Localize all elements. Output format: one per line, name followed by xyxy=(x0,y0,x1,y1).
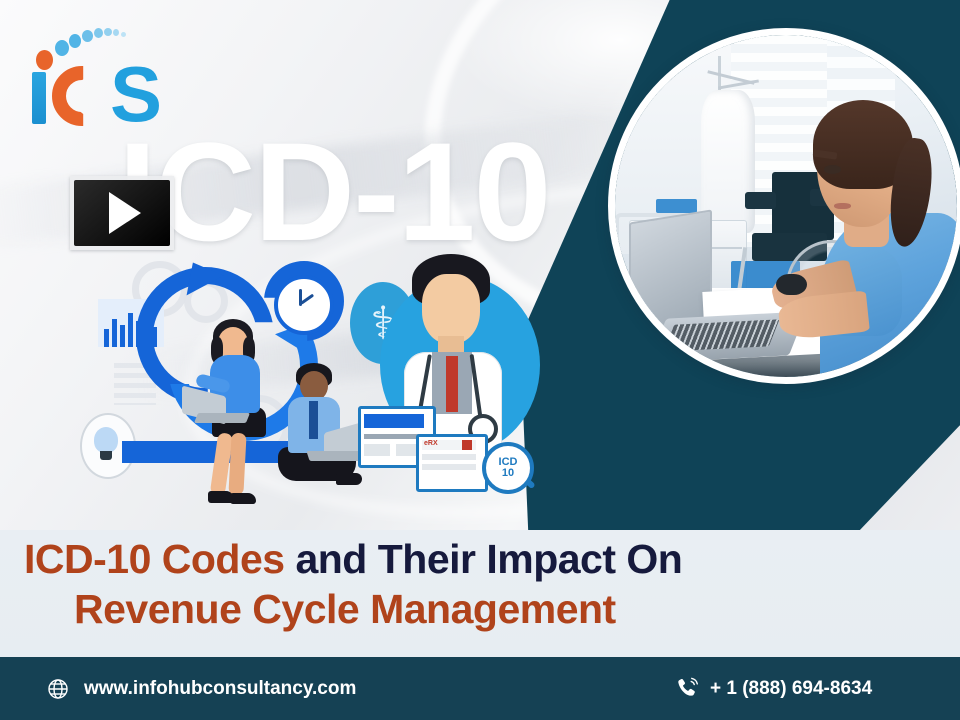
watermark-icd10: ICD-10 xyxy=(118,122,549,262)
footer-phone-text: + 1 (888) 694-8634 xyxy=(710,678,872,700)
photo-nurse-lips xyxy=(834,203,851,210)
logo-letter-c xyxy=(52,66,112,126)
man-necktie xyxy=(309,401,318,439)
clock-icon xyxy=(274,275,334,335)
woman-laptop-base xyxy=(194,413,250,423)
doctor-face xyxy=(422,274,480,344)
woman-leg-back xyxy=(228,433,246,496)
play-triangle-icon xyxy=(109,192,141,234)
erx-form-line-1 xyxy=(422,454,476,460)
chart-bar xyxy=(120,325,125,347)
page-title: ICD-10 Codes and Their Impact On Revenue… xyxy=(0,534,960,634)
doctor-necktie xyxy=(446,356,458,412)
logo-dot-arc-6 xyxy=(113,29,119,36)
lightbulb-icon xyxy=(94,427,118,453)
title-line-1-highlight: ICD-10 Codes xyxy=(24,536,285,582)
footer-bar: www.infohubconsultancy.com + 1 (888) 694… xyxy=(0,657,960,720)
phone-icon xyxy=(674,676,700,702)
nurse-photo-image xyxy=(615,35,957,377)
chart-bar xyxy=(128,313,133,347)
slide-canvas: ICD-10 xyxy=(0,0,960,720)
photo-nurse-eye xyxy=(824,165,841,174)
ics-logo[interactable]: S xyxy=(14,14,174,124)
footer-phone[interactable]: + 1 (888) 694-8634 xyxy=(674,657,872,720)
play-button-surface xyxy=(74,180,170,246)
logo-letter-s: S xyxy=(110,66,160,126)
footer-website-text: www.infohubconsultancy.com xyxy=(84,678,356,700)
chart-bar xyxy=(112,319,117,347)
video-play-button[interactable] xyxy=(70,176,174,250)
logo-dot-arc-2 xyxy=(69,34,81,48)
logo-dot-arc-3 xyxy=(82,30,93,42)
photo-wheelchair-armrest-left xyxy=(745,192,776,209)
doctor-illustration: ⚕ eRX ICD 10 xyxy=(350,248,550,508)
logo-dot-arc-7 xyxy=(121,32,126,37)
medical-cross-icon xyxy=(462,440,472,450)
logo-letter-i xyxy=(32,72,46,124)
title-line-1: ICD-10 Codes and Their Impact On xyxy=(0,534,960,584)
footer-website[interactable]: www.infohubconsultancy.com xyxy=(46,657,356,720)
logo-dot-arc-1 xyxy=(55,40,69,56)
logo-dot-arc-5 xyxy=(104,28,112,36)
lightbulb-base xyxy=(100,451,112,460)
woman-shoe-back xyxy=(230,493,256,504)
ehr-laptop-header-bar xyxy=(364,414,424,428)
erx-form-line-2 xyxy=(422,464,476,470)
globe-icon xyxy=(46,677,70,701)
logo-dot-arc-4 xyxy=(94,28,103,38)
ehr-laptop-block-left xyxy=(364,444,390,456)
nurse-photo-circle xyxy=(608,28,960,384)
title-line-1-rest: and Their Impact On xyxy=(285,536,683,582)
icd10-magnifier-badge: ICD 10 xyxy=(482,442,534,494)
ehr-laptop-line xyxy=(364,434,424,439)
photo-computer-mouse xyxy=(776,274,807,295)
flow-base-bar xyxy=(122,441,300,463)
title-line-2: Revenue Cycle Management xyxy=(0,584,960,634)
icd10-badge-line2: 10 xyxy=(502,468,514,479)
photo-blue-tray xyxy=(656,199,697,213)
chart-bar xyxy=(104,329,109,347)
logo-dot-orange xyxy=(36,50,53,70)
erx-form-label: eRX xyxy=(424,440,438,447)
